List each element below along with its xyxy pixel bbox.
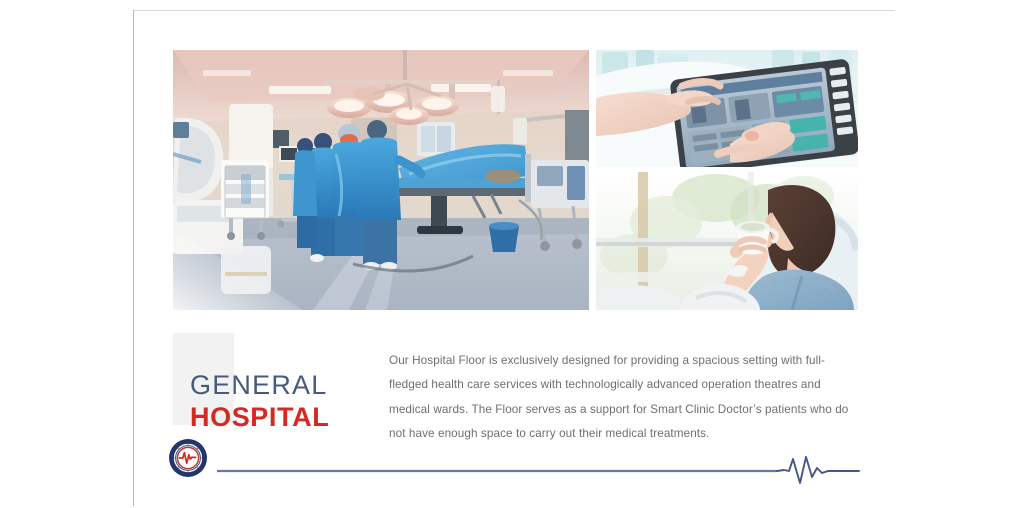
touchscreen-monitor-photo [596, 50, 858, 167]
frame-top-rule [133, 10, 895, 11]
image-collage [173, 50, 858, 310]
description-paragraph: Our Hospital Floor is exclusively design… [389, 349, 863, 447]
title-line-hospital: HOSPITAL [190, 403, 329, 432]
page-title: GENERAL HOSPITAL [190, 371, 329, 431]
footer [168, 434, 868, 486]
frame-left-rule [133, 10, 134, 506]
ecg-divider-line [217, 458, 865, 484]
hospital-emblem-icon [168, 438, 208, 478]
presentation-slide: GENERAL HOSPITAL Our Hospital Floor is e… [0, 0, 1024, 508]
patient-ward-photo [596, 172, 858, 310]
title-line-general: GENERAL [190, 371, 329, 400]
operating-theatre-photo [173, 50, 589, 310]
